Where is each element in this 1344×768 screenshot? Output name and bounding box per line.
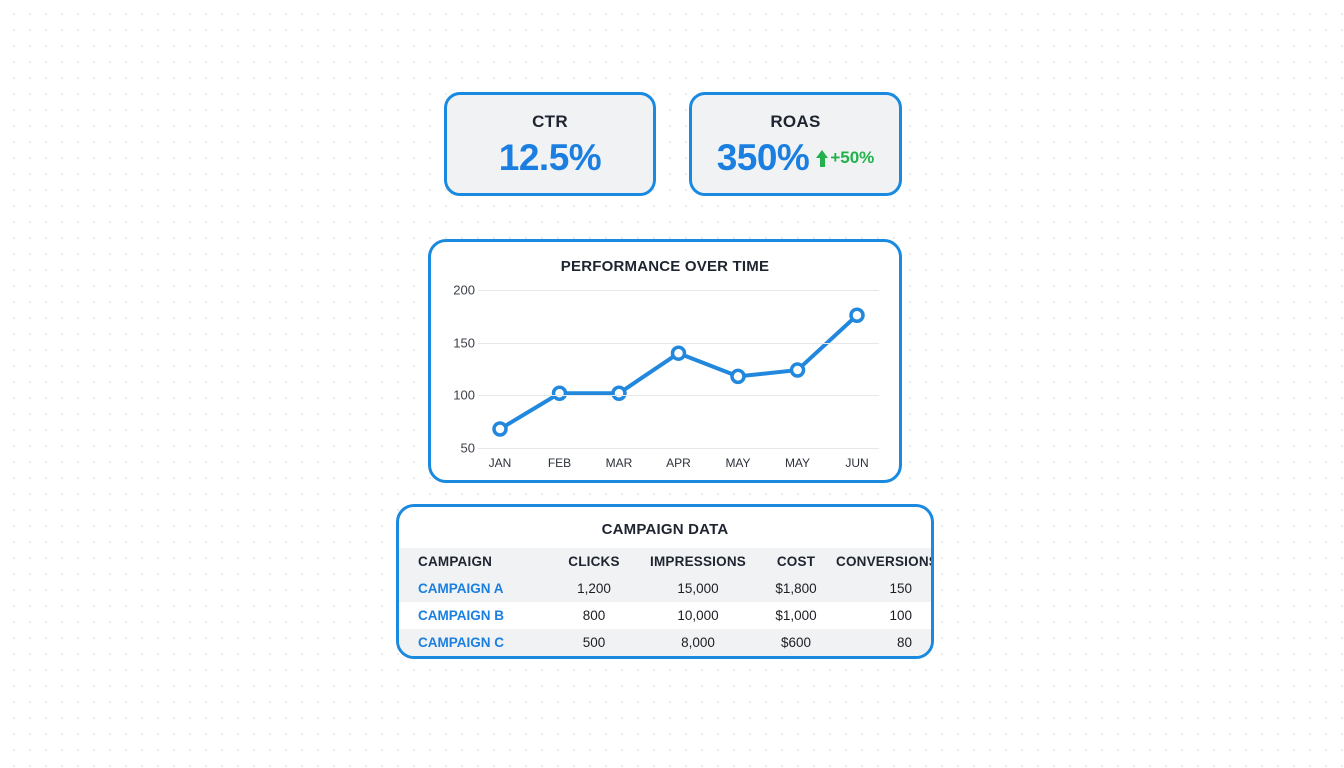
dashboard-canvas: CTR 12.5% ROAS 350% +50% PERFORMANCE OVE… bbox=[0, 0, 1344, 768]
campaign-data-table: CAMPAIGN CLICKS IMPRESSIONS COST CONVERS… bbox=[399, 548, 931, 656]
table-cell-impressions: 10,000 bbox=[640, 602, 756, 629]
kpi-value-row-roas: 350% +50% bbox=[717, 139, 875, 176]
chart-line-series bbox=[478, 290, 879, 448]
table-body: CAMPAIGN A1,20015,000$1,800150CAMPAIGN B… bbox=[399, 575, 931, 656]
table-cell-conversions: 150 bbox=[836, 575, 931, 602]
table-cell-campaign[interactable]: CAMPAIGN B bbox=[399, 602, 548, 629]
table-cell-cost: $600 bbox=[756, 629, 836, 656]
table-cell-impressions: 8,000 bbox=[640, 629, 756, 656]
chart-gridline bbox=[478, 343, 879, 344]
table-cell-campaign[interactable]: CAMPAIGN C bbox=[399, 629, 548, 656]
x-axis-tick-label: JUN bbox=[845, 456, 868, 470]
chart-gridline bbox=[478, 290, 879, 291]
table-header-row: CAMPAIGN CLICKS IMPRESSIONS COST CONVERS… bbox=[399, 548, 931, 575]
x-axis-tick-label: JAN bbox=[489, 456, 512, 470]
table-row[interactable]: CAMPAIGN C5008,000$60080 bbox=[399, 629, 931, 656]
table-cell-conversions: 80 bbox=[836, 629, 931, 656]
kpi-card-ctr[interactable]: CTR 12.5% bbox=[444, 92, 656, 196]
column-header-campaign[interactable]: CAMPAIGN bbox=[399, 548, 548, 575]
table-cell-clicks: 1,200 bbox=[548, 575, 640, 602]
chart-data-point[interactable] bbox=[494, 423, 506, 435]
y-axis-tick-label: 200 bbox=[453, 283, 475, 298]
chart-gridline bbox=[478, 395, 879, 396]
table-cell-cost: $1,000 bbox=[756, 602, 836, 629]
arrow-up-icon bbox=[816, 149, 829, 167]
kpi-delta-value-roas: +50% bbox=[830, 148, 874, 168]
table-cell-clicks: 800 bbox=[548, 602, 640, 629]
column-header-cost[interactable]: COST bbox=[756, 548, 836, 575]
table-cell-clicks: 500 bbox=[548, 629, 640, 656]
chart-title: PERFORMANCE OVER TIME bbox=[431, 258, 899, 275]
table-cell-cost: $1,800 bbox=[756, 575, 836, 602]
table-row[interactable]: CAMPAIGN B80010,000$1,000100 bbox=[399, 602, 931, 629]
table-header: CAMPAIGN CLICKS IMPRESSIONS COST CONVERS… bbox=[399, 548, 931, 575]
kpi-value-ctr: 12.5% bbox=[499, 139, 601, 176]
campaign-data-card[interactable]: CAMPAIGN DATA CAMPAIGN CLICKS IMPRESSION… bbox=[396, 504, 934, 659]
kpi-card-roas[interactable]: ROAS 350% +50% bbox=[689, 92, 902, 196]
table-cell-conversions: 100 bbox=[836, 602, 931, 629]
kpi-value-row-ctr: 12.5% bbox=[499, 139, 601, 176]
chart-data-point[interactable] bbox=[732, 370, 744, 382]
kpi-label-ctr: CTR bbox=[532, 112, 568, 132]
performance-chart-card[interactable]: PERFORMANCE OVER TIME 20015010050JANFEBM… bbox=[428, 239, 902, 483]
kpi-label-roas: ROAS bbox=[770, 112, 820, 132]
table-cell-campaign[interactable]: CAMPAIGN A bbox=[399, 575, 548, 602]
chart-plot-area: 20015010050JANFEBMARAPRMAYMAYJUN bbox=[478, 290, 879, 448]
kpi-value-roas: 350% bbox=[717, 139, 810, 176]
x-axis-tick-label: FEB bbox=[548, 456, 571, 470]
chart-data-point[interactable] bbox=[554, 387, 566, 399]
table-title: CAMPAIGN DATA bbox=[399, 521, 931, 538]
x-axis-tick-label: MAY bbox=[785, 456, 810, 470]
y-axis-tick-label: 50 bbox=[461, 441, 475, 456]
column-header-clicks[interactable]: CLICKS bbox=[548, 548, 640, 575]
table-row[interactable]: CAMPAIGN A1,20015,000$1,800150 bbox=[399, 575, 931, 602]
chart-data-point[interactable] bbox=[792, 364, 804, 376]
chart-data-point[interactable] bbox=[851, 309, 863, 321]
x-axis-tick-label: MAR bbox=[606, 456, 633, 470]
chart-data-point[interactable] bbox=[673, 347, 685, 359]
chart-gridline bbox=[478, 448, 879, 449]
table-cell-impressions: 15,000 bbox=[640, 575, 756, 602]
chart-data-point[interactable] bbox=[613, 387, 625, 399]
kpi-delta-roas: +50% bbox=[816, 148, 874, 168]
x-axis-tick-label: MAY bbox=[725, 456, 750, 470]
x-axis-tick-label: APR bbox=[666, 456, 691, 470]
y-axis-tick-label: 150 bbox=[453, 335, 475, 350]
column-header-impressions[interactable]: IMPRESSIONS bbox=[640, 548, 756, 575]
y-axis-tick-label: 100 bbox=[453, 388, 475, 403]
column-header-conversions[interactable]: CONVERSIONS bbox=[836, 548, 931, 575]
